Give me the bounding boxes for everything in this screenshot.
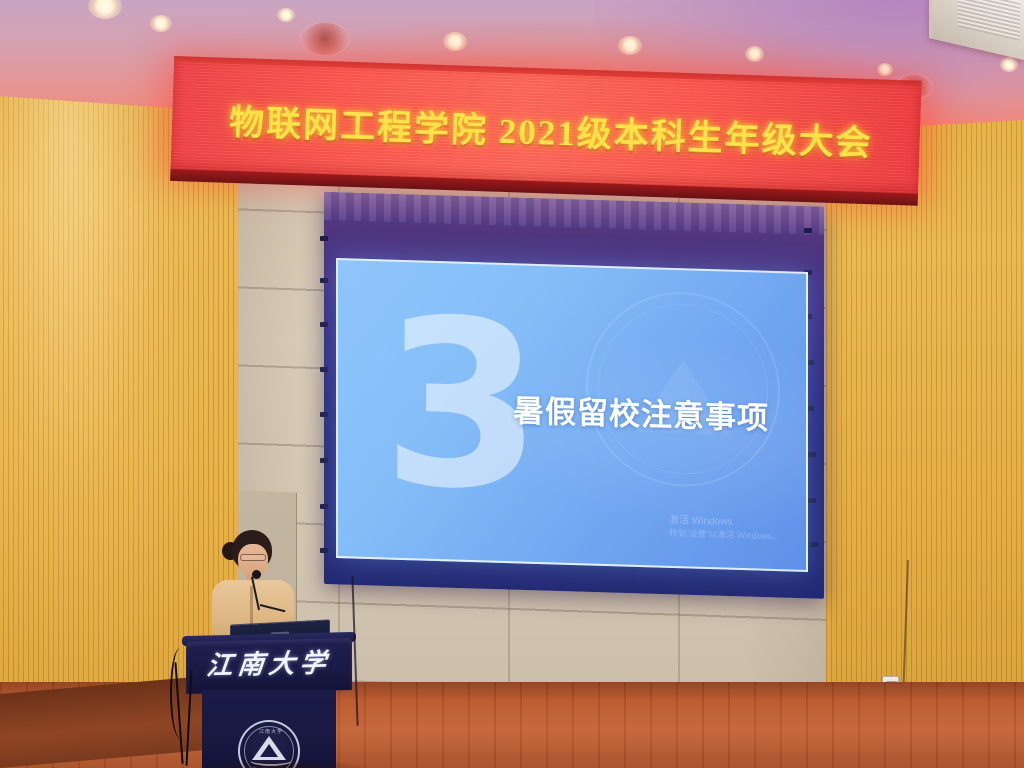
ceiling-downlight	[1000, 57, 1018, 72]
ceiling-downlight	[150, 15, 172, 32]
ceiling-recessed-speaker	[300, 22, 350, 56]
ceiling-downlight	[277, 8, 295, 22]
conference-hall-photo: 物联网工程学院 2021级本科生年级大会 3 暑假留校注意事项 激活 Wi	[0, 0, 1024, 768]
screen-tension-hook	[320, 412, 328, 417]
screen-tension-hook	[320, 367, 328, 372]
right-wall-slatted-panel	[826, 120, 1024, 751]
screen-tension-hook	[320, 236, 328, 241]
lectern-floor-shadow	[196, 760, 366, 768]
lectern-university-calligraphy: 江南大学	[184, 642, 354, 683]
projection-screen-assembly: 3 暑假留校注意事项 激活 Windows 转到"设置"以激活 Windows。	[300, 192, 822, 584]
windows-activation-watermark: 激活 Windows 转到"设置"以激活 Windows。	[669, 514, 780, 543]
ceiling-downlight	[877, 63, 893, 76]
screen-tension-hook	[320, 322, 328, 327]
glasses-icon	[240, 554, 266, 561]
emblem-top-text: 江南大学	[240, 728, 302, 735]
watermark-line-2: 转到"设置"以激活 Windows。	[669, 527, 780, 543]
ceiling-downlight	[88, 0, 122, 19]
screen-tension-hook	[810, 542, 818, 547]
screen-tension-hook	[808, 498, 816, 503]
screen-tension-hook	[320, 504, 328, 509]
screen-top-valance	[324, 192, 824, 235]
slide-title: 暑假留校注意事项	[513, 385, 769, 438]
screen-tension-hook	[804, 228, 812, 233]
ceiling-downlight	[618, 36, 642, 55]
lectern-front-panel: 江南大学 JIANGNAN UNIVERSITY	[202, 690, 336, 768]
screen-tension-hook	[808, 452, 816, 457]
projected-slide: 3 暑假留校注意事项 激活 Windows 转到"设置"以激活 Windows。	[336, 258, 808, 572]
podium-and-speaker: 江南大学 江南大学 JIANGNAN UNIVERSITY	[186, 530, 366, 768]
lectern: 江南大学 江南大学 JIANGNAN UNIVERSITY	[186, 640, 352, 768]
ceiling-downlight	[443, 32, 467, 51]
screen-tension-hook	[320, 458, 328, 463]
vent-grill	[958, 0, 1020, 41]
ceiling-downlight	[745, 46, 764, 62]
led-banner: 物联网工程学院 2021级本科生年级大会	[170, 62, 921, 197]
screen-tension-hook	[320, 278, 328, 283]
